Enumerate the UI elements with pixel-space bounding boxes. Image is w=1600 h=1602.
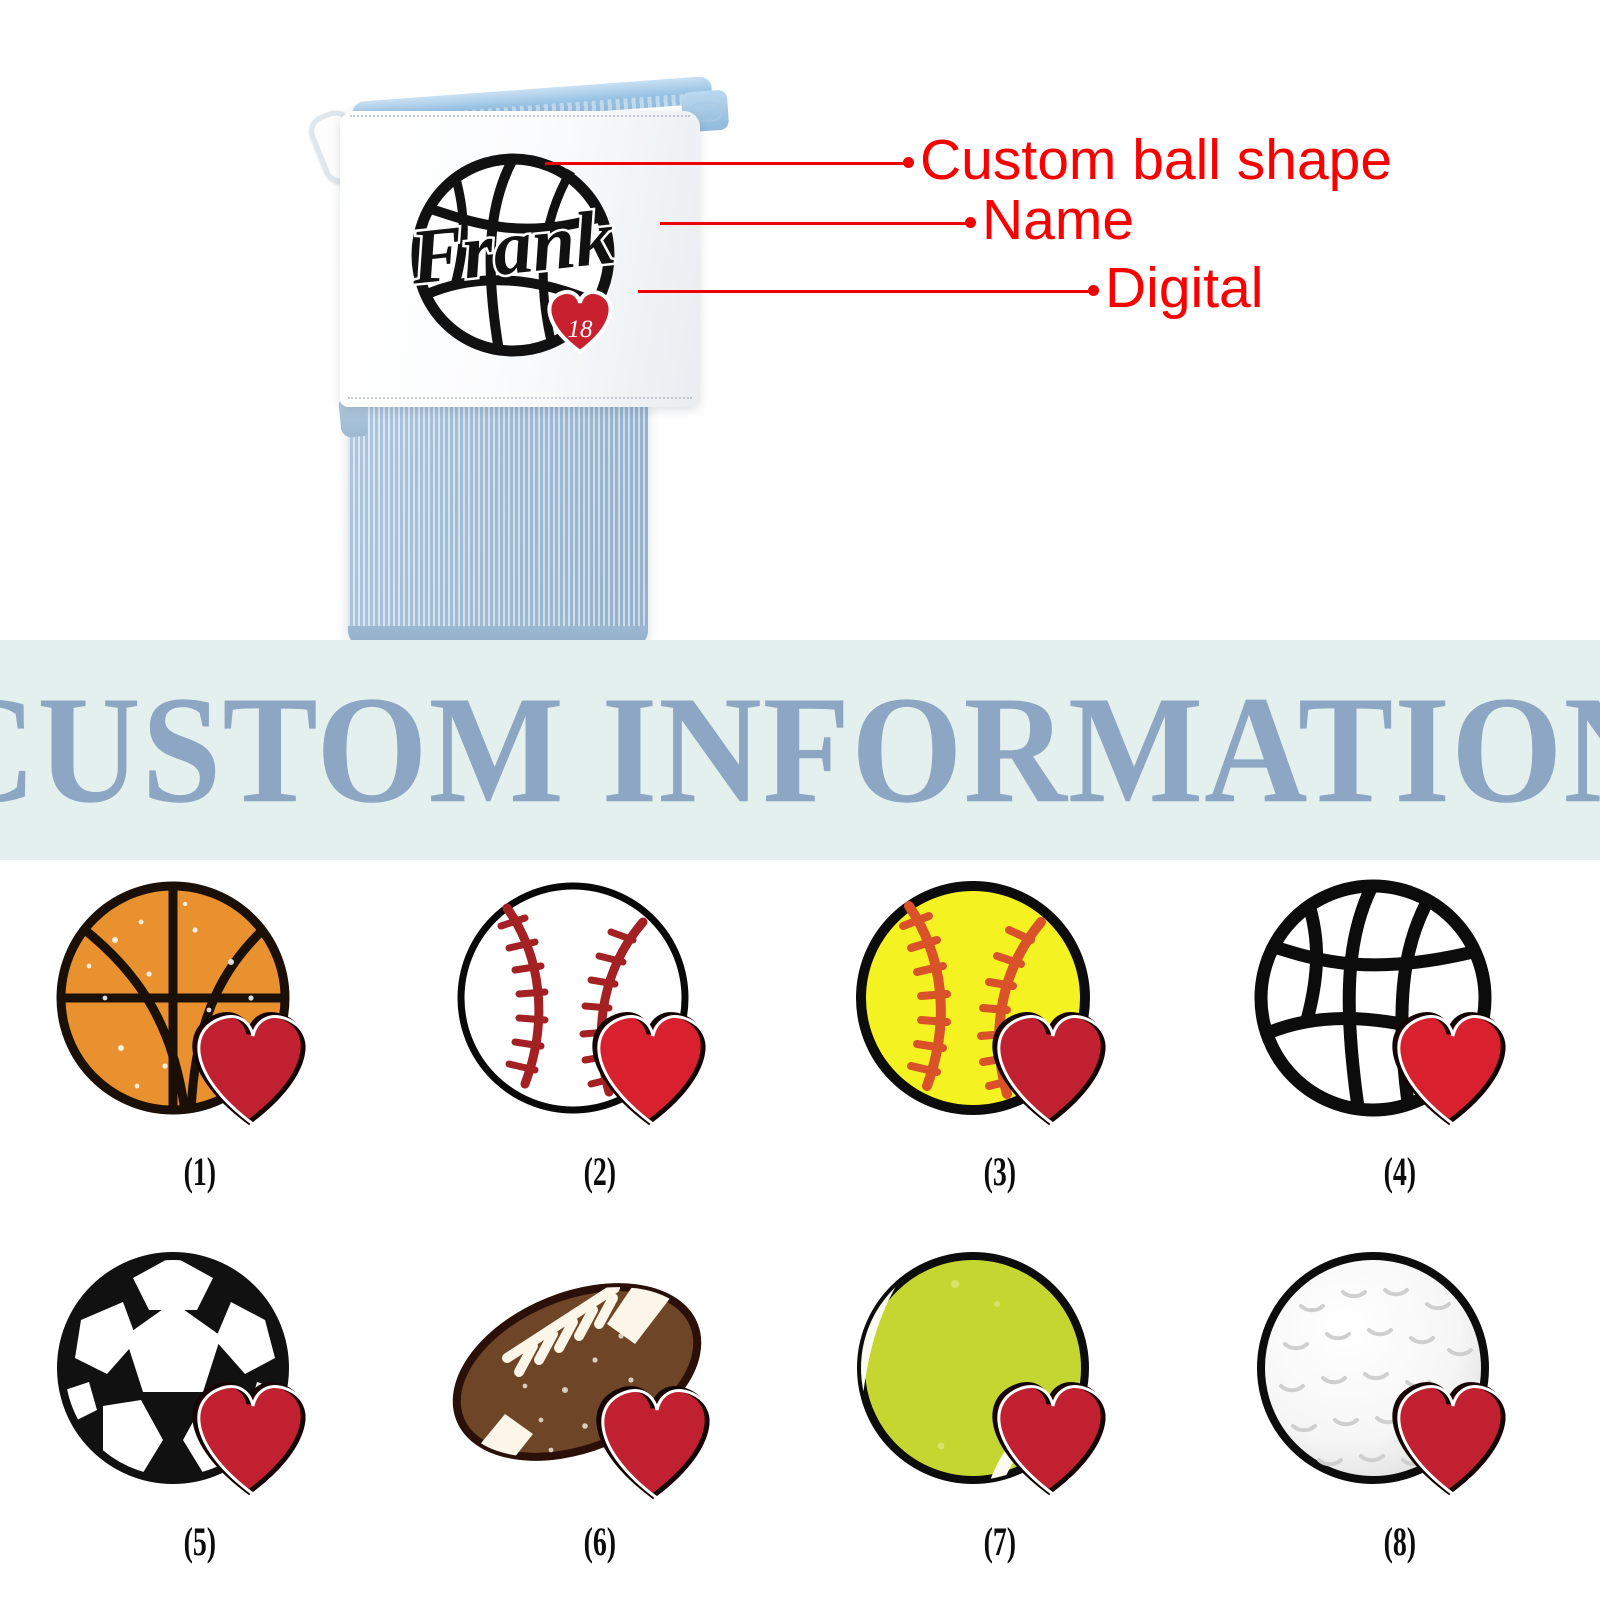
golf-ball-icon (1245, 1240, 1555, 1518)
heart-badge (599, 1389, 711, 1498)
volleyball-icon (1245, 870, 1555, 1148)
football-icon (445, 1240, 755, 1518)
customization-page: Frank 18 Custom ball shape Name Digital … (0, 0, 1600, 1600)
custom-information-banner: CUSTOM INFORMATION (0, 640, 1600, 860)
ball-option-6[interactable]: (6) (400, 1232, 800, 1602)
ball-option-label: (7) (984, 1521, 1017, 1566)
leader-dot-digital (1088, 285, 1099, 296)
leader-line-ball-shape (545, 162, 908, 165)
basketball-icon (45, 870, 355, 1148)
heart-badge (995, 1385, 1107, 1494)
heart-badge (1395, 1385, 1507, 1494)
banner-title: CUSTOM INFORMATION (0, 673, 1600, 827)
ball-option-label: (8) (1384, 1521, 1417, 1566)
baseball-icon (445, 870, 755, 1148)
ball-option-2[interactable]: (2) (400, 862, 800, 1232)
ball-option-8[interactable]: (8) (1200, 1232, 1600, 1602)
ball-option-label: (4) (1384, 1151, 1417, 1196)
ball-option-5[interactable]: (5) (0, 1232, 400, 1602)
ball-option-label: (2) (584, 1151, 617, 1196)
leader-dot-name (965, 217, 976, 228)
callout-digital: Digital (1105, 260, 1263, 317)
callout-name: Name (982, 192, 1134, 249)
ball-option-7[interactable]: (7) (800, 1232, 1200, 1602)
ball-option-label: (5) (184, 1521, 217, 1566)
soccer-ball-icon (45, 1240, 355, 1518)
softball-icon (845, 870, 1155, 1148)
ball-option-label: (6) (584, 1521, 617, 1566)
product-hero: Frank 18 Custom ball shape Name Digital (0, 0, 1600, 640)
ball-option-label: (1) (184, 1151, 217, 1196)
ball-option-1[interactable]: (1) (0, 862, 400, 1232)
ball-options-grid: (1) (0, 862, 1600, 1600)
case-fabric-body (348, 393, 648, 648)
leader-dot-ball-shape (903, 157, 914, 168)
leader-line-name (660, 222, 970, 225)
callout-custom-ball-shape: Custom ball shape (920, 132, 1392, 189)
heart-badge (595, 1015, 707, 1124)
ball-option-4[interactable]: (4) (1200, 862, 1600, 1232)
ball-option-3[interactable]: (3) (800, 862, 1200, 1232)
printed-number: 18 (568, 316, 594, 343)
printed-design: Frank 18 (395, 145, 645, 380)
leader-line-digital (638, 290, 1093, 293)
ball-option-label: (3) (984, 1151, 1017, 1196)
tennis-ball-icon (845, 1240, 1155, 1518)
pencil-case-product: Frank 18 (300, 75, 740, 605)
heart-badge (195, 1385, 307, 1494)
